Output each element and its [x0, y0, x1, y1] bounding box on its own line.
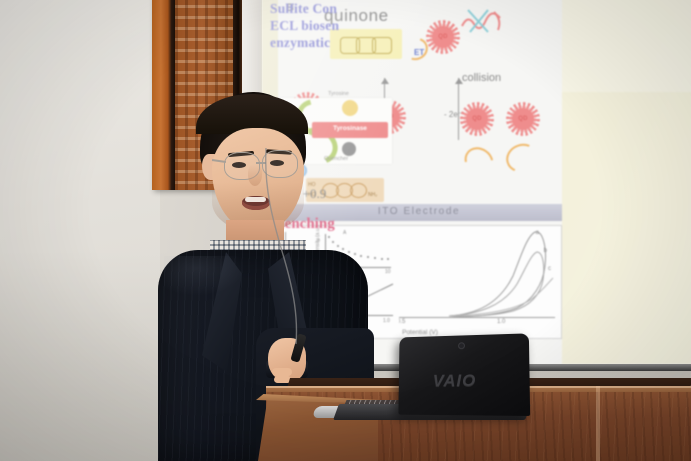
- microphone-cable: [258, 148, 318, 358]
- right-title-line: ECL biosen: [270, 17, 394, 34]
- right-title-line: enzymatic: [270, 34, 394, 51]
- qd-particle: [432, 26, 454, 48]
- webcam-icon: [458, 342, 465, 349]
- slide-right-title: Sulfite Con ECL biosen enzymatic: [270, 0, 394, 51]
- up-arrow-icon: [458, 78, 459, 140]
- right-title-line: Sulfite Con: [270, 0, 394, 17]
- shoulder-highlight: [164, 256, 244, 296]
- x-tick: 1.0: [497, 319, 505, 325]
- podium-corner-highlight: [596, 386, 600, 461]
- biomolecule-squiggle-icon: [458, 6, 512, 40]
- qd-particle: [466, 108, 488, 130]
- laptop-lid: VAIO: [398, 333, 530, 416]
- curve-label-a: a: [536, 230, 539, 236]
- slide-right-panel-top: [562, 0, 691, 92]
- laptop-brand-logo: VAIO: [433, 371, 477, 391]
- finger: [272, 368, 292, 376]
- cv-curves: [447, 226, 557, 318]
- presentation-photo: B quinone: [0, 0, 691, 461]
- curve-label-b: b: [544, 248, 547, 254]
- slide-label-electrons-2: - 2e⁻: [444, 110, 462, 119]
- qd-particle: [512, 108, 534, 130]
- slide-label-collision: collision: [462, 72, 501, 84]
- curve-label-c: c: [548, 266, 551, 272]
